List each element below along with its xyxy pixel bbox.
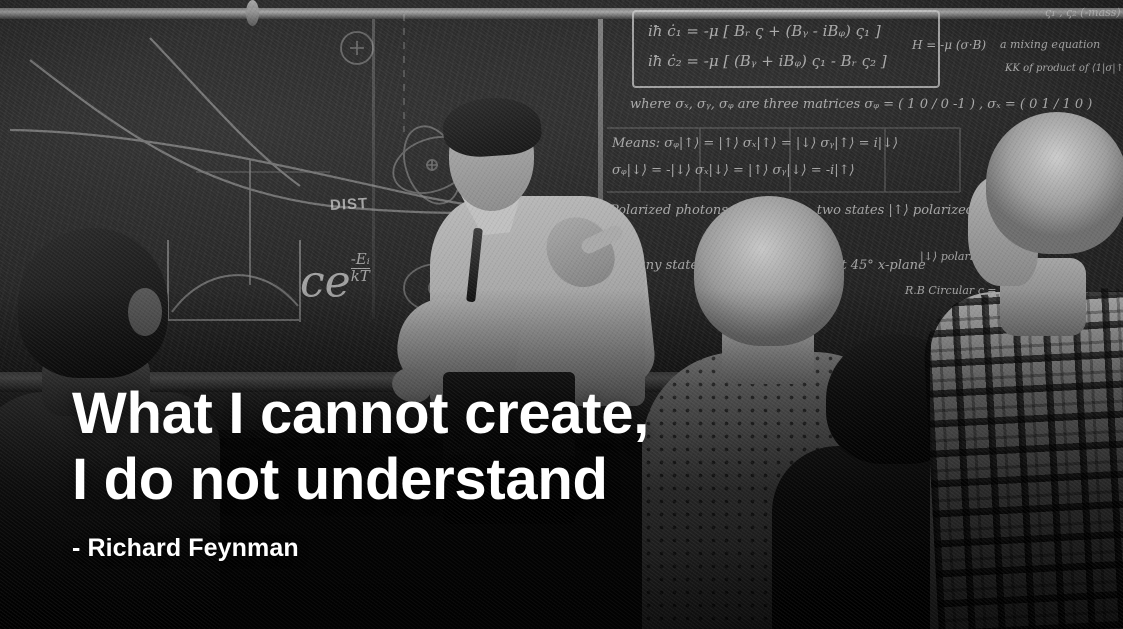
quote-block: What I cannot create, I do not understan…	[72, 381, 649, 563]
quote-card: DIST ce-EᵢkT iħ ċ₁ = -μ [ Bᵣ ς + (Bᵧ - i…	[0, 0, 1123, 629]
quote-line-1: What I cannot create,	[72, 381, 649, 447]
quote-line-2: I do not understand	[72, 447, 649, 513]
quote-attribution: - Richard Feynman	[72, 534, 649, 563]
